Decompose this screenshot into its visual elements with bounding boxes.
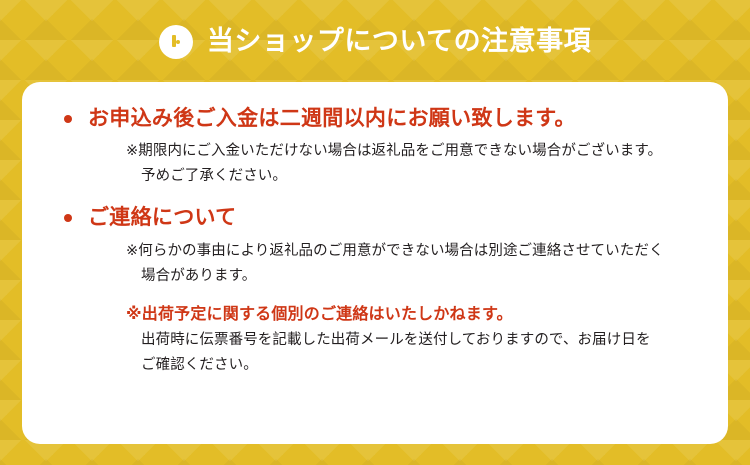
bullet-dot-icon bbox=[64, 214, 72, 222]
spacer bbox=[48, 189, 702, 203]
notice-line-emphasis: ※出荷予定に関する個別のご連絡はいたしかねます。 bbox=[126, 301, 702, 329]
banner-header: 当ショップについての注意事項 bbox=[0, 0, 750, 82]
shop-notice-banner: 当ショップについての注意事項 お申込み後ご入金は二週間以内にお願い致します。 ※… bbox=[0, 0, 750, 465]
banner-title: 当ショップについての注意事項 bbox=[207, 28, 591, 55]
notice-line: ご確認ください。 bbox=[141, 353, 702, 378]
bullet-dot-icon bbox=[64, 115, 72, 123]
notice-section-heading-row: お申込み後ご入金は二週間以内にお願い致します。 bbox=[48, 104, 702, 133]
notice-card: お申込み後ご入金は二週間以内にお願い致します。 ※期限内にご入金いただけない場合… bbox=[22, 82, 728, 444]
notice-heading-payment: お申込み後ご入金は二週間以内にお願い致します。 bbox=[88, 104, 576, 133]
notice-line: 予めご了承ください。 bbox=[141, 164, 702, 189]
notice-detail-payment: ※期限内にご入金いただけない場合は返礼品をご用意できない場合がございます。 予め… bbox=[126, 139, 702, 189]
notice-section-heading-row: ご連絡について bbox=[48, 203, 702, 232]
notice-line: ※何らかの事由により返礼品のご用意ができない場合は別途ご連絡させていただく bbox=[126, 239, 702, 264]
notice-line: 場合があります。 bbox=[141, 264, 702, 289]
notice-detail-contact: ※何らかの事由により返礼品のご用意ができない場合は別途ご連絡させていただく 場合… bbox=[126, 239, 702, 378]
notice-line: 出荷時に伝票番号を記載した出荷メールを送付しておりますので、お届け日を bbox=[141, 328, 702, 353]
exclamation-circle-icon bbox=[159, 25, 193, 59]
notice-line: ※期限内にご入金いただけない場合は返礼品をご用意できない場合がございます。 bbox=[126, 139, 702, 164]
notice-heading-contact: ご連絡について bbox=[88, 203, 236, 232]
spacer bbox=[126, 289, 702, 301]
exclamation-dot bbox=[176, 40, 180, 44]
